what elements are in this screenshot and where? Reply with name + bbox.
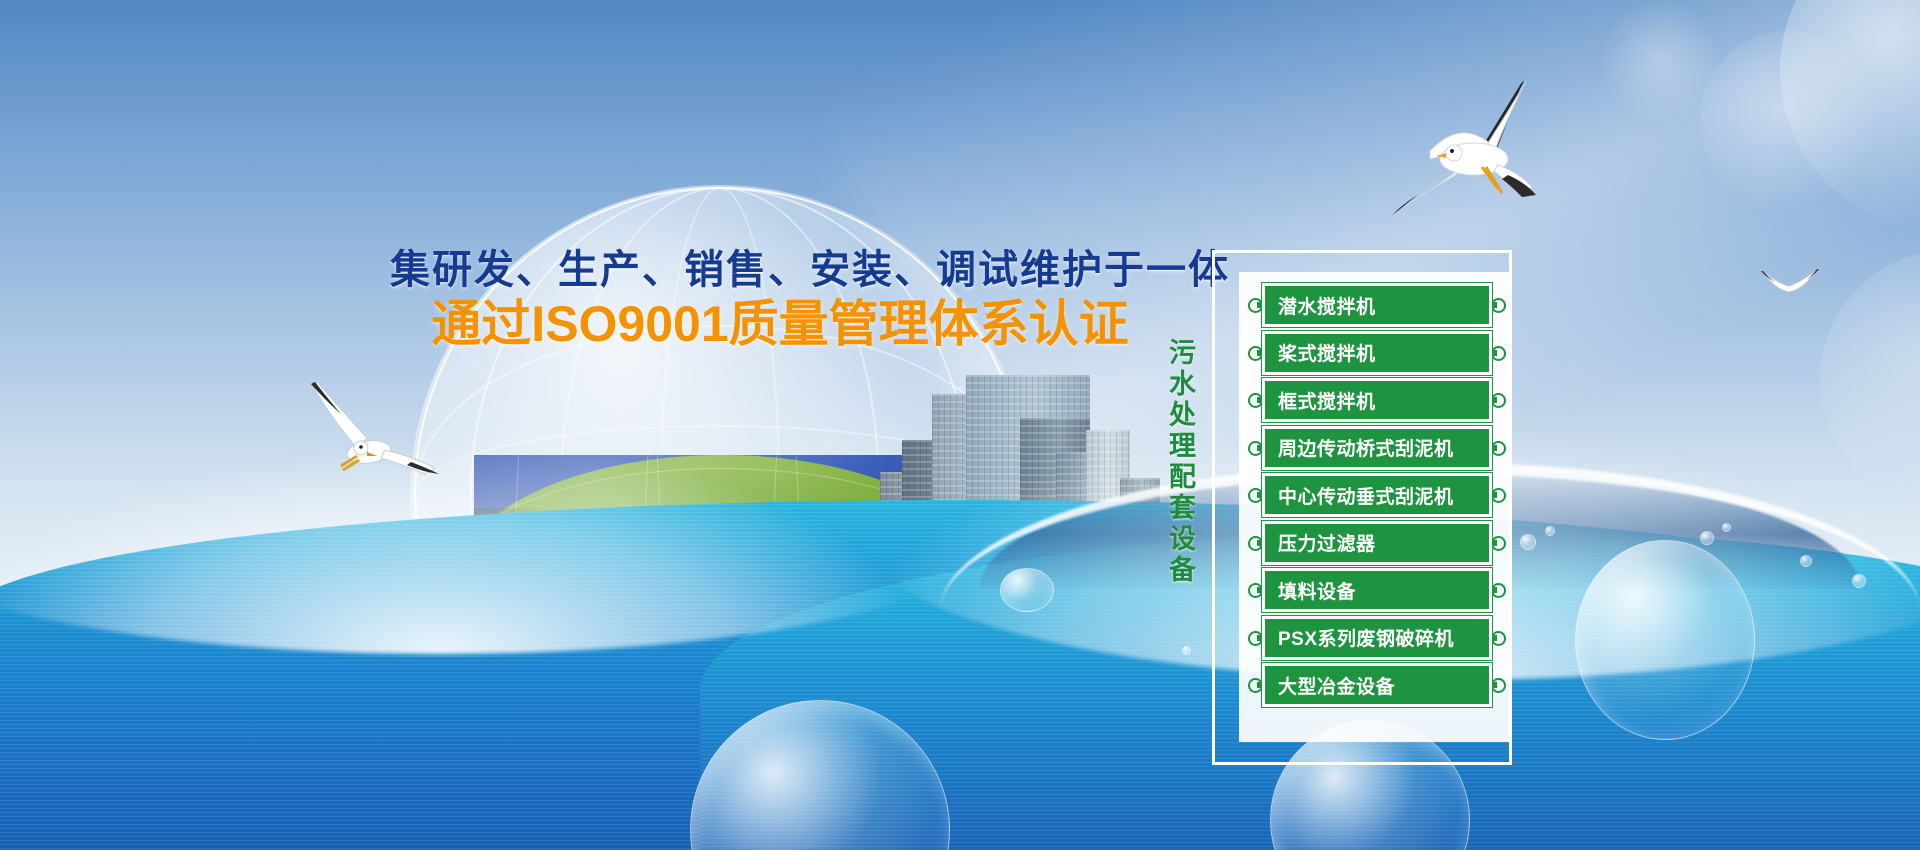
bubble-small-2 bbox=[1545, 526, 1555, 536]
product-label: 压力过滤器 bbox=[1265, 529, 1376, 556]
item-connector-right bbox=[1491, 488, 1506, 503]
product-list-item[interactable]: 填料设备 bbox=[1252, 568, 1502, 612]
product-plate[interactable]: 周边传动桥式刮泥机 bbox=[1262, 426, 1492, 470]
product-plate[interactable]: 大型冶金设备 bbox=[1262, 663, 1492, 707]
product-label: 周边传动桥式刮泥机 bbox=[1265, 434, 1454, 461]
product-list-item[interactable]: PSX系列废钢破碎机 bbox=[1252, 616, 1502, 660]
item-connector-left bbox=[1248, 631, 1263, 646]
product-label: 中心传动垂式刮泥机 bbox=[1265, 482, 1454, 509]
product-list: 潜水搅拌机桨式搅拌机框式搅拌机周边传动桥式刮泥机中心传动垂式刮泥机压力过滤器填料… bbox=[1252, 283, 1502, 711]
item-connector-right bbox=[1491, 583, 1506, 598]
product-panel: 污水处理配套设备 潜水搅拌机桨式搅拌机框式搅拌机周边传动桥式刮泥机中心传动垂式刮… bbox=[1212, 250, 1512, 765]
product-list-item[interactable]: 周边传动桥式刮泥机 bbox=[1252, 426, 1502, 470]
product-plate[interactable]: 潜水搅拌机 bbox=[1262, 283, 1492, 327]
product-plate[interactable]: 桨式搅拌机 bbox=[1262, 331, 1492, 375]
product-plate[interactable]: 中心传动垂式刮泥机 bbox=[1262, 473, 1492, 517]
bubble-small-1 bbox=[1520, 534, 1536, 550]
light-bloom-2 bbox=[1700, 30, 1880, 210]
seagull-large-icon bbox=[1370, 55, 1590, 230]
seagull-small-right-icon bbox=[1755, 262, 1825, 302]
item-connector-right bbox=[1491, 298, 1506, 313]
item-connector-right bbox=[1491, 346, 1506, 361]
panel-vertical-title: 污水处理配套设备 bbox=[1160, 338, 1200, 586]
item-connector-left bbox=[1248, 678, 1263, 693]
item-connector-right bbox=[1491, 536, 1506, 551]
product-list-item[interactable]: 潜水搅拌机 bbox=[1252, 283, 1502, 327]
bubble-small-4 bbox=[1722, 523, 1731, 532]
product-label: PSX系列废钢破碎机 bbox=[1265, 624, 1454, 651]
product-plate[interactable]: 框式搅拌机 bbox=[1262, 378, 1492, 422]
light-bloom-3 bbox=[1600, 0, 1720, 120]
item-connector-left bbox=[1248, 441, 1263, 456]
headline-primary: 集研发、生产、销售、安装、调试维护于一体 bbox=[390, 248, 1170, 292]
item-connector-left bbox=[1248, 346, 1263, 361]
product-plate[interactable]: 填料设备 bbox=[1262, 568, 1492, 612]
item-connector-right bbox=[1491, 393, 1506, 408]
bubble-large-right bbox=[1575, 540, 1755, 740]
product-list-item[interactable]: 压力过滤器 bbox=[1252, 521, 1502, 565]
headline-block: 集研发、生产、销售、安装、调试维护于一体 通过ISO9001质量管理体系认证 bbox=[390, 248, 1170, 351]
product-label: 填料设备 bbox=[1265, 577, 1356, 604]
product-plate[interactable]: 压力过滤器 bbox=[1262, 521, 1492, 565]
bubble-small-6 bbox=[1852, 574, 1866, 588]
product-list-item[interactable]: 框式搅拌机 bbox=[1252, 378, 1502, 422]
product-list-item[interactable]: 桨式搅拌机 bbox=[1252, 331, 1502, 375]
product-plate[interactable]: PSX系列废钢破碎机 bbox=[1262, 616, 1492, 660]
item-connector-right bbox=[1491, 631, 1506, 646]
product-list-item[interactable]: 中心传动垂式刮泥机 bbox=[1252, 473, 1502, 517]
water-scene bbox=[0, 430, 1920, 850]
bubble-small-9 bbox=[1182, 646, 1191, 655]
item-connector-left bbox=[1248, 536, 1263, 551]
promo-banner: 集研发、生产、销售、安装、调试维护于一体 通过ISO9001质量管理体系认证 污… bbox=[0, 0, 1920, 850]
product-label: 大型冶金设备 bbox=[1265, 672, 1395, 699]
product-label: 框式搅拌机 bbox=[1265, 387, 1376, 414]
bubble-small-3 bbox=[1700, 531, 1714, 545]
bubble-small-5 bbox=[1800, 555, 1812, 567]
product-label: 桨式搅拌机 bbox=[1265, 339, 1376, 366]
headline-secondary: 通过ISO9001质量管理体系认证 bbox=[390, 298, 1170, 351]
light-bloom-1 bbox=[1780, 0, 1920, 230]
item-connector-right bbox=[1491, 441, 1506, 456]
item-connector-right bbox=[1491, 678, 1506, 693]
item-connector-left bbox=[1248, 488, 1263, 503]
bubble-medium-1 bbox=[1000, 568, 1054, 612]
item-connector-left bbox=[1248, 393, 1263, 408]
item-connector-left bbox=[1248, 583, 1263, 598]
item-connector-left bbox=[1248, 298, 1263, 313]
product-list-item[interactable]: 大型冶金设备 bbox=[1252, 663, 1502, 707]
product-label: 潜水搅拌机 bbox=[1265, 292, 1376, 319]
